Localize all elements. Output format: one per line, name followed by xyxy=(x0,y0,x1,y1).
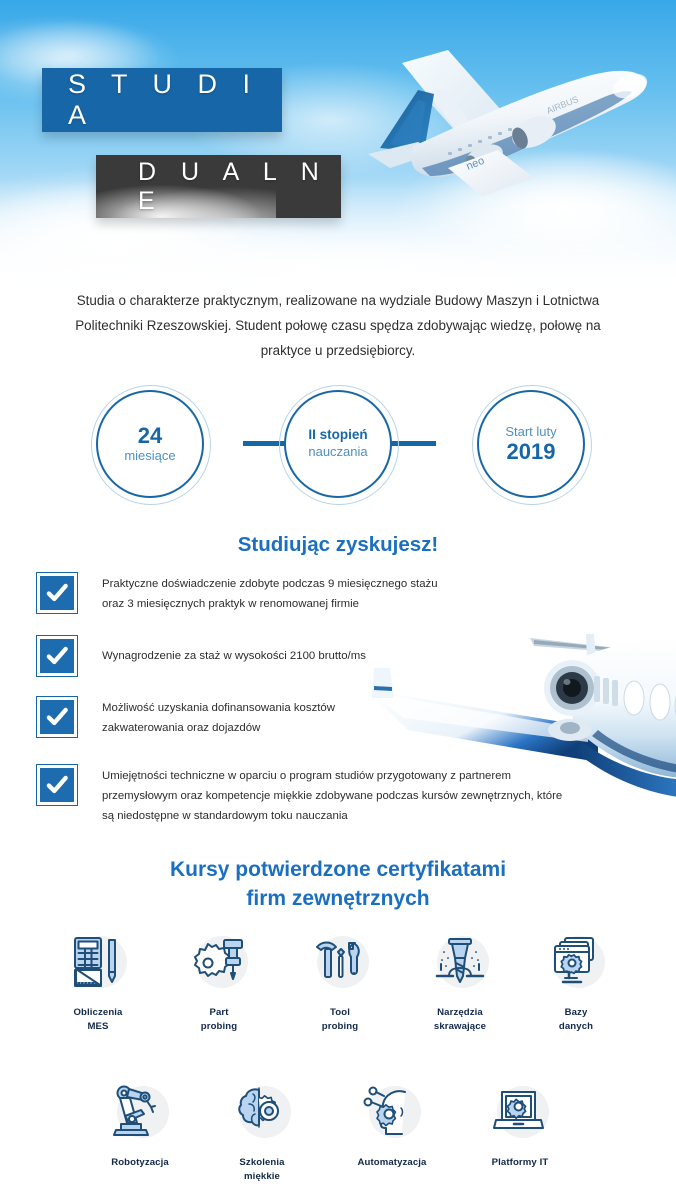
title-line-1: S T U D I A xyxy=(68,69,282,131)
course-label: Part probing xyxy=(163,1006,275,1034)
course-label: Szkolenia miękkie xyxy=(206,1156,318,1184)
course-label-line-2: MES xyxy=(42,1020,154,1034)
course-item-obliczenia-mes[interactable]: Obliczenia MES xyxy=(42,930,154,1034)
course-label-line-2: miękkie xyxy=(206,1170,318,1184)
check-icon xyxy=(44,772,70,798)
course-item-bazy-danych[interactable]: Bazy danych xyxy=(520,930,632,1034)
head-gear-circuit-icon xyxy=(359,1080,425,1146)
course-item-szkolenia-miekkie[interactable]: Szkolenia miękkie xyxy=(206,1080,318,1184)
course-label-line-1: Narzędzia xyxy=(404,1006,516,1020)
fact-value: 24 xyxy=(138,424,162,448)
course-label-line-1: Obliczenia xyxy=(42,1006,154,1020)
course-label: Narzędzia skrawające xyxy=(404,1006,516,1034)
benefit-item: Umiejętności techniczne w oparciu o prog… xyxy=(36,764,566,826)
benefits-heading: Studiując zyskujesz! xyxy=(0,533,676,557)
course-label-line-1: Robotyzacja xyxy=(84,1156,196,1170)
benefit-text: Wynagrodzenie za staż w wysokości 2100 b… xyxy=(102,635,366,677)
benefit-item: Wynagrodzenie za staż w wysokości 2100 b… xyxy=(36,635,436,677)
gear-probe-icon xyxy=(186,930,252,996)
check-icon xyxy=(44,704,70,730)
fact-circle-duration: 24 miesiące xyxy=(96,390,204,498)
course-label-line-2: danych xyxy=(520,1020,632,1034)
title-banner-studia: S T U D I A xyxy=(42,68,282,132)
checkbox-checked xyxy=(36,572,78,614)
checkbox-checked xyxy=(36,635,78,677)
course-label: Bazy danych xyxy=(520,1006,632,1034)
course-label-line-2: skrawające xyxy=(404,1020,516,1034)
course-label-line-1: Tool xyxy=(284,1006,396,1020)
title-line-2: D U A L N E xyxy=(138,158,341,216)
benefit-item: Praktyczne doświadczenie zdobyte podczas… xyxy=(36,572,456,614)
intro-paragraph: Studia o charakterze praktycznym, realiz… xyxy=(60,288,616,363)
laptop-gear-icon xyxy=(487,1080,553,1146)
fact-circle-degree: II stopień nauczania xyxy=(284,390,392,498)
check-icon xyxy=(44,643,70,669)
fact-value: Start luty xyxy=(505,424,556,440)
fact-label: 2019 xyxy=(507,440,556,464)
course-item-tool-probing[interactable]: Tool probing xyxy=(284,930,396,1034)
course-item-part-probing[interactable]: Part probing xyxy=(163,930,275,1034)
database-monitor-gear-icon xyxy=(543,930,609,996)
courses-heading-line-1: Kursy potwierdzone certyfikatami xyxy=(0,855,676,884)
benefit-text: Umiejętności techniczne w oparciu o prog… xyxy=(102,764,566,826)
facts-row: 24 miesiące II stopień nauczania Start l… xyxy=(0,390,676,500)
fact-label: miesiące xyxy=(124,448,175,464)
fact-circle-start: Start luty 2019 xyxy=(477,390,585,498)
checkbox-checked xyxy=(36,696,78,738)
title-banner-dualne: D U A L N E xyxy=(96,155,341,218)
course-label-line-1: Bazy xyxy=(520,1006,632,1020)
brain-gear-icon xyxy=(229,1080,295,1146)
benefit-text: Praktyczne doświadczenie zdobyte podczas… xyxy=(102,572,456,614)
course-label: Automatyzacja xyxy=(336,1156,448,1170)
course-label: Platformy IT xyxy=(464,1156,576,1170)
courses-heading: Kursy potwierdzone certyfikatami firm ze… xyxy=(0,855,676,913)
course-item-automatyzacja[interactable]: Automatyzacja xyxy=(336,1080,448,1170)
cloud-decoration xyxy=(150,230,570,290)
course-label-line-1: Automatyzacja xyxy=(336,1156,448,1170)
course-item-narzedzia-skrawajace[interactable]: Narzędzia skrawające xyxy=(404,930,516,1034)
course-label-line-1: Part xyxy=(163,1006,275,1020)
checkbox-checked xyxy=(36,764,78,806)
benefit-item: Możliwość uzyskania dofinansowania koszt… xyxy=(36,696,356,738)
course-label-line-1: Platformy IT xyxy=(464,1156,576,1170)
fact-label: nauczania xyxy=(308,444,367,460)
courses-heading-line-2: firm zewnętrznych xyxy=(0,884,676,913)
course-label-line-2: probing xyxy=(284,1020,396,1034)
infographic-page: AIRBUS neo S T U D I A D U A L N E Studi… xyxy=(0,0,676,1200)
course-label: Robotyzacja xyxy=(84,1156,196,1170)
course-label: Obliczenia MES xyxy=(42,1006,154,1034)
drill-bit-icon xyxy=(427,930,493,996)
course-label: Tool probing xyxy=(284,1006,396,1034)
check-icon xyxy=(44,580,70,606)
course-item-robotyzacja[interactable]: Robotyzacja xyxy=(84,1080,196,1170)
benefit-text: Możliwość uzyskania dofinansowania koszt… xyxy=(102,696,356,738)
hero-sky-background: AIRBUS neo S T U D I A D U A L N E xyxy=(0,0,676,290)
calculator-ruler-pencil-icon xyxy=(65,930,131,996)
course-label-line-2: probing xyxy=(163,1020,275,1034)
fact-value: II stopień xyxy=(308,427,367,444)
hammer-wrench-tools-icon xyxy=(307,930,373,996)
course-label-line-1: Szkolenia xyxy=(206,1156,318,1170)
course-item-platformy-it[interactable]: Platformy IT xyxy=(464,1080,576,1170)
robot-arm-icon xyxy=(107,1080,173,1146)
